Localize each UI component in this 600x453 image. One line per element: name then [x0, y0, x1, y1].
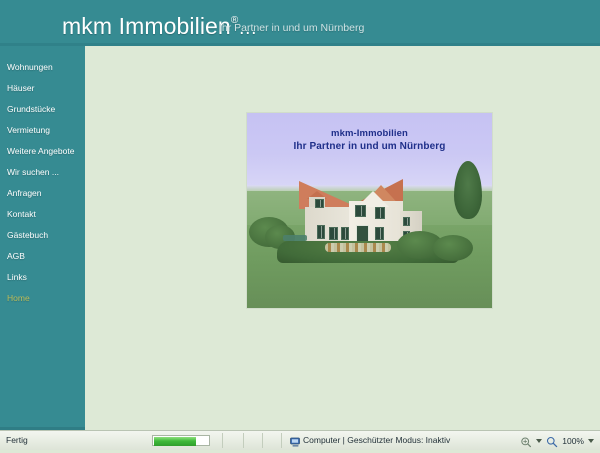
status-separator-3 — [262, 433, 263, 448]
window-dormer — [315, 199, 324, 208]
sidebar-item-kontakt[interactable]: Kontakt — [0, 204, 85, 225]
sidebar-item-agb[interactable]: AGB — [0, 246, 85, 267]
status-bar-right-group: 100% — [520, 434, 594, 448]
zoom-level-text[interactable]: 100% — [562, 436, 584, 446]
status-text: Fertig — [6, 435, 28, 445]
window-lower-1 — [317, 225, 325, 239]
sidebar-item-anfragen[interactable]: Anfragen — [0, 183, 85, 204]
hero-caption-line1: mkm-Immobilien — [247, 127, 492, 140]
site-header: mkm Immobilien®… Ihr Partner in und um N… — [0, 0, 600, 46]
privacy-dropdown-chevron-down-icon[interactable] — [536, 439, 542, 443]
browser-status-bar: Fertig Computer | Geschützter Modus: Ina… — [0, 430, 600, 450]
tree-icon — [450, 161, 486, 225]
sidebar-item-home[interactable]: Home — [0, 288, 85, 309]
status-separator-2 — [243, 433, 244, 448]
zoom-icon[interactable] — [546, 435, 558, 447]
zoom-dropdown-chevron-down-icon[interactable] — [588, 439, 594, 443]
window-upper-3 — [403, 217, 410, 226]
status-separator-4 — [281, 433, 282, 448]
hero-image: mkm-Immobilien Ihr Partner in und um Nür… — [247, 113, 492, 308]
window-lower-2 — [329, 227, 338, 240]
window-lower-3 — [341, 227, 349, 240]
sidebar-item-links[interactable]: Links — [0, 267, 85, 288]
sidebar-item-grundstuecke[interactable]: Grundstücke — [0, 99, 85, 120]
hero-caption-line2: Ihr Partner in und um Nürnberg — [247, 140, 492, 153]
window-upper-1 — [355, 205, 366, 217]
browser-viewport: mkm Immobilien®… Ihr Partner in und um N… — [0, 0, 600, 450]
computer-icon — [290, 435, 301, 446]
sidebar-nav: Wohnungen Häuser Grundstücke Vermietung … — [0, 46, 85, 430]
bush-right-2 — [433, 235, 473, 261]
progress-bar-fill — [154, 437, 196, 446]
site-tagline: Ihr Partner in und um Nürnberg — [219, 22, 364, 34]
status-separator-1 — [222, 433, 223, 448]
sidebar-item-vermietung[interactable]: Vermietung — [0, 120, 85, 141]
sidebar-item-gaestebuch[interactable]: Gästebuch — [0, 225, 85, 246]
sidebar-item-wohnungen[interactable]: Wohnungen — [0, 57, 85, 78]
main-content: mkm-Immobilien Ihr Partner in und um Nür… — [85, 46, 600, 430]
brand-name: mkm Immobilien — [62, 13, 231, 39]
hero-caption: mkm-Immobilien Ihr Partner in und um Nür… — [247, 127, 492, 153]
sidebar-item-wir-suchen[interactable]: Wir suchen ... — [0, 162, 85, 183]
flower-bed — [325, 243, 391, 252]
progress-bar — [152, 435, 210, 446]
privacy-report-icon[interactable] — [520, 435, 532, 447]
sidebar-item-haeuser[interactable]: Häuser — [0, 78, 85, 99]
front-door — [356, 225, 369, 242]
window-lower-4 — [375, 227, 384, 240]
security-zone-text: Computer | Geschützter Modus: Inaktiv — [303, 435, 450, 445]
window-upper-2 — [375, 207, 385, 219]
sidebar-item-weitere-angebote[interactable]: Weitere Angebote — [0, 141, 85, 162]
